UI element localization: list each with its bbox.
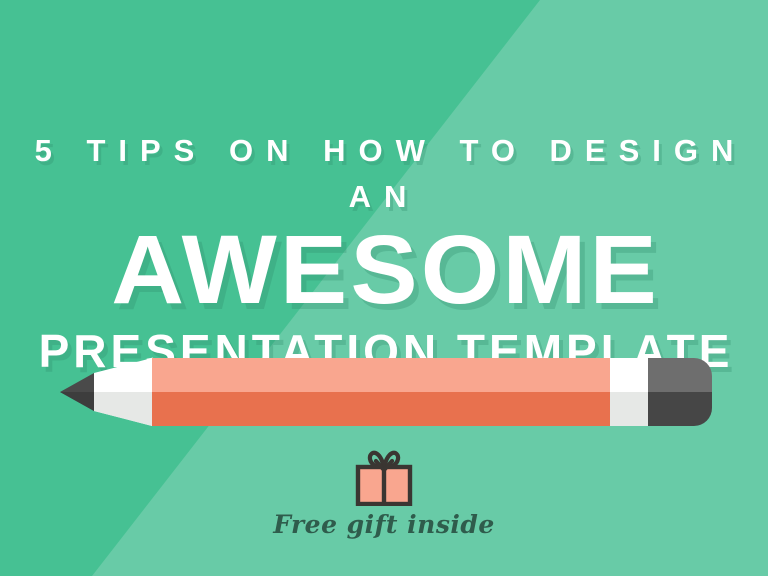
kicker-line: 5 TIPS ON HOW TO DESIGN AN [0, 128, 768, 220]
free-gift-caption: Free gift inside [0, 510, 768, 539]
pencil-wood-cone-shade [94, 392, 152, 426]
pencil-illustration [60, 358, 712, 426]
pencil-eraser-bottom [648, 392, 712, 426]
gift-box-icon [349, 448, 419, 506]
headline-group: 5 TIPS ON HOW TO DESIGN AN AWESOME PRESE… [0, 128, 768, 382]
page-title: AWESOME [0, 220, 768, 320]
pencil-body-top [152, 358, 610, 392]
pencil-ferrule-bottom [610, 392, 648, 426]
pencil-eraser-top [648, 358, 712, 392]
pencil-graphite-tip-shade [60, 392, 94, 411]
pencil-ferrule-top [610, 358, 648, 392]
slide-canvas: 5 TIPS ON HOW TO DESIGN AN AWESOME PRESE… [0, 0, 768, 576]
pencil-body-bottom [152, 392, 610, 426]
